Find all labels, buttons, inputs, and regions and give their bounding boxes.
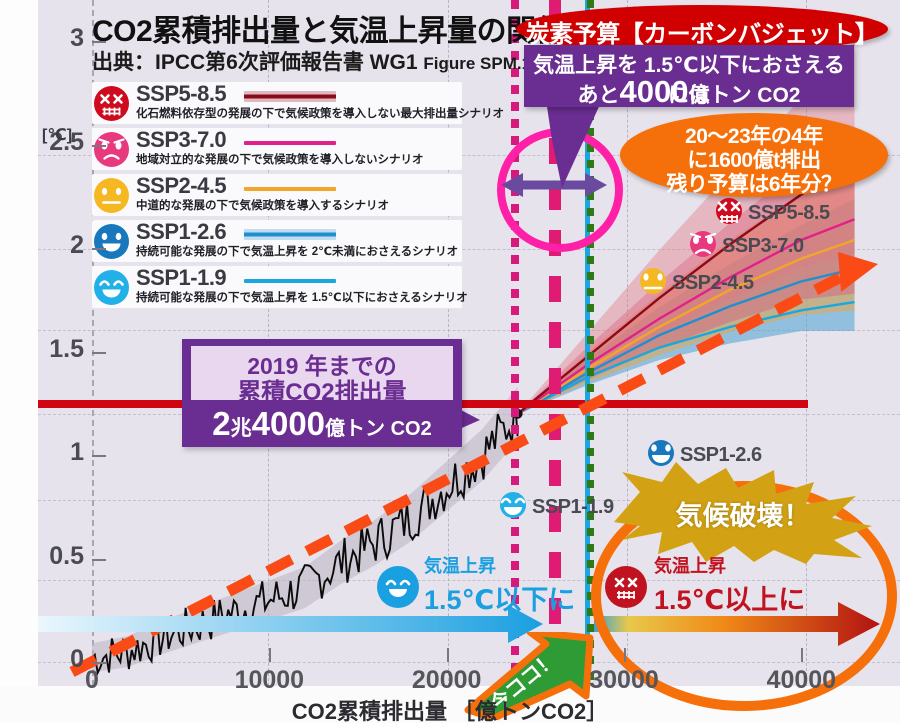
chart-label-text: SSP5-8.5 bbox=[748, 202, 830, 225]
legend-scenario-name: SSP5-8.5 bbox=[136, 81, 226, 107]
below-threshold-line1: 気温上昇 bbox=[424, 552, 575, 578]
legend-scenario-name: SSP1-1.9 bbox=[136, 265, 226, 291]
legend-scenario-desc: 地域対立的な発展の下で気候政策を導入しないシナリオ bbox=[136, 151, 424, 167]
emission-pace-callout: 20〜23年の4年 に1600億t排出 残り予算は6年分？ bbox=[620, 113, 888, 197]
chart-label-text: SSP3-7.0 bbox=[722, 235, 804, 258]
burst-label: 気候破壊！ bbox=[614, 494, 872, 533]
legend-scenario-desc: 持続可能な発展の下で気温上昇を 2℃未満におさえるシナリオ bbox=[136, 243, 458, 259]
x-tick-label: 40000 bbox=[741, 666, 861, 695]
legend-item-ssp5-8.5: SSP5-8.5 化石燃料依存型の発展の下で気候政策を導入しない最大排出量シナリ… bbox=[92, 82, 462, 124]
y-tick-label: 1.5 bbox=[32, 335, 84, 364]
dead-face-icon bbox=[716, 198, 742, 229]
y-tick-label: 1 bbox=[32, 438, 84, 467]
y-tick-mark bbox=[92, 662, 106, 664]
x-tick-mark bbox=[801, 648, 803, 662]
cumulative-2019-inner: 2019 年までの 累積CO2排出量 bbox=[191, 346, 453, 400]
below-threshold-line2: 1.5℃以下に bbox=[424, 578, 575, 617]
chart-label-text: SSP1-1.9 bbox=[532, 496, 614, 519]
happy-face-icon bbox=[377, 566, 419, 608]
happy-face-icon bbox=[94, 224, 129, 259]
remaining-budget-value: 4000 bbox=[620, 74, 689, 109]
emission-pace-line3: 残り予算は6年分？ bbox=[620, 168, 888, 198]
x-tick-mark bbox=[624, 648, 626, 662]
y-tick-mark bbox=[92, 41, 106, 43]
below-threshold-callout: 気温上昇 1.5℃以下に bbox=[424, 552, 575, 617]
y-tick-mark bbox=[92, 248, 106, 250]
cumulative-2019-callout: 2019 年までの 累積CO2排出量 2兆4000億トン CO2 bbox=[182, 339, 462, 447]
carbon-budget-banner-label: 炭素予算【カーボンバジェット】 bbox=[516, 14, 888, 49]
legend-item-ssp3-7.0: SSP3-7.0 地域対立的な発展の下で気候政策を導入しないシナリオ bbox=[92, 128, 462, 170]
legend-line-swatch bbox=[244, 141, 336, 145]
dead-face-icon bbox=[94, 86, 129, 121]
y-tick-mark bbox=[92, 352, 106, 354]
y-tick-mark bbox=[92, 455, 106, 457]
grin-face-icon bbox=[500, 492, 526, 523]
y-axis-unit: [℃] bbox=[42, 125, 72, 145]
chart-label-ssp2-4.5: SSP2-4.5 bbox=[640, 268, 754, 299]
remaining-budget-callout: 気温上昇を 1.5℃以下におさえるには あと4000億トン CO2 bbox=[524, 45, 854, 107]
legend-scenario-desc: 持続可能な発展の下で気温上昇を 1.5℃以下におさえるシナリオ bbox=[136, 289, 468, 305]
remaining-budget-line2: あと4000億トン CO2 bbox=[524, 74, 854, 110]
source-line: 出典：IPCC第6次評価報告書 WG1 Figure SPM.10 bbox=[92, 46, 541, 76]
legend-scenario-name: SSP2-4.5 bbox=[136, 173, 226, 199]
x-tick-label: 30000 bbox=[564, 666, 684, 695]
y-tick-label: 0.5 bbox=[32, 542, 84, 571]
legend-line-swatch bbox=[244, 187, 336, 191]
legend-item-ssp1-2.6: SSP1-2.6 持続可能な発展の下で気温上昇を 2℃未満におさえるシナリオ bbox=[92, 220, 462, 262]
chart-label-ssp1-1.9: SSP1-1.9 bbox=[500, 492, 614, 523]
neutral-face-icon bbox=[94, 178, 129, 213]
above-threshold-line2: 1.5℃以上に bbox=[654, 578, 805, 617]
x-tick-label: 10000 bbox=[209, 666, 329, 695]
y-tick-mark bbox=[92, 559, 106, 561]
chart-label-ssp5-8.5: SSP5-8.5 bbox=[716, 198, 830, 229]
scenario-legend: SSP5-8.5 化石燃料依存型の発展の下で気候政策を導入しない最大排出量シナリ… bbox=[92, 82, 462, 312]
legend-scenario-name: SSP3-7.0 bbox=[136, 127, 226, 153]
cumulative-2019-line2: 累積CO2排出量 bbox=[191, 372, 453, 407]
legend-scenario-desc: 化石燃料依存型の発展の下で気候政策を導入しない最大排出量シナリオ bbox=[136, 105, 504, 121]
x-tick-mark bbox=[269, 648, 271, 662]
grin-face-icon bbox=[94, 270, 129, 305]
legend-scenario-name: SSP1-2.6 bbox=[136, 219, 226, 245]
legend-item-ssp1-1.9: SSP1-1.9 持続可能な発展の下で気温上昇を 1.5℃以下におさえるシナリオ bbox=[92, 266, 462, 308]
x-tick-mark bbox=[447, 648, 449, 662]
x-tick-label: 20000 bbox=[387, 666, 507, 695]
x-axis-title: CO2累積排出量 ［億トンCO2］ bbox=[0, 694, 900, 723]
dead-face-icon bbox=[605, 566, 647, 608]
sad-face-icon bbox=[690, 231, 716, 262]
y-tick-label: 2 bbox=[32, 231, 84, 260]
page-title: CO2累積排出量と気温上昇量の関係 bbox=[92, 6, 565, 50]
sad-face-icon bbox=[94, 132, 129, 167]
trend-arrow-head bbox=[838, 252, 878, 292]
chart-label-text: SSP2-4.5 bbox=[672, 272, 754, 295]
y-tick-label: 3 bbox=[32, 24, 84, 53]
chart-label-ssp3-7.0: SSP3-7.0 bbox=[690, 231, 804, 262]
legend-scenario-desc: 中道的な発展の下で気候政策を導入するシナリオ bbox=[136, 197, 389, 213]
burst-text-wrap: 気候破壊！ bbox=[614, 462, 872, 564]
x-tick-label: 0 bbox=[32, 666, 152, 695]
neutral-face-icon bbox=[640, 268, 666, 299]
infographic-chart: 気候破壊！ 今ココ！ CO2累積排出量と気温上昇量の関係 出典：IPCC第6次評… bbox=[0, 0, 900, 723]
legend-line-swatch bbox=[244, 91, 336, 102]
legend-line-swatch bbox=[244, 279, 336, 283]
legend-line-swatch bbox=[244, 229, 336, 240]
legend-item-ssp2-4.5: SSP2-4.5 中道的な発展の下で気候政策を導入するシナリオ bbox=[92, 174, 462, 216]
y-tick-mark bbox=[92, 145, 106, 147]
cumulative-2019-value: 2兆4000億トン CO2 bbox=[182, 405, 462, 443]
